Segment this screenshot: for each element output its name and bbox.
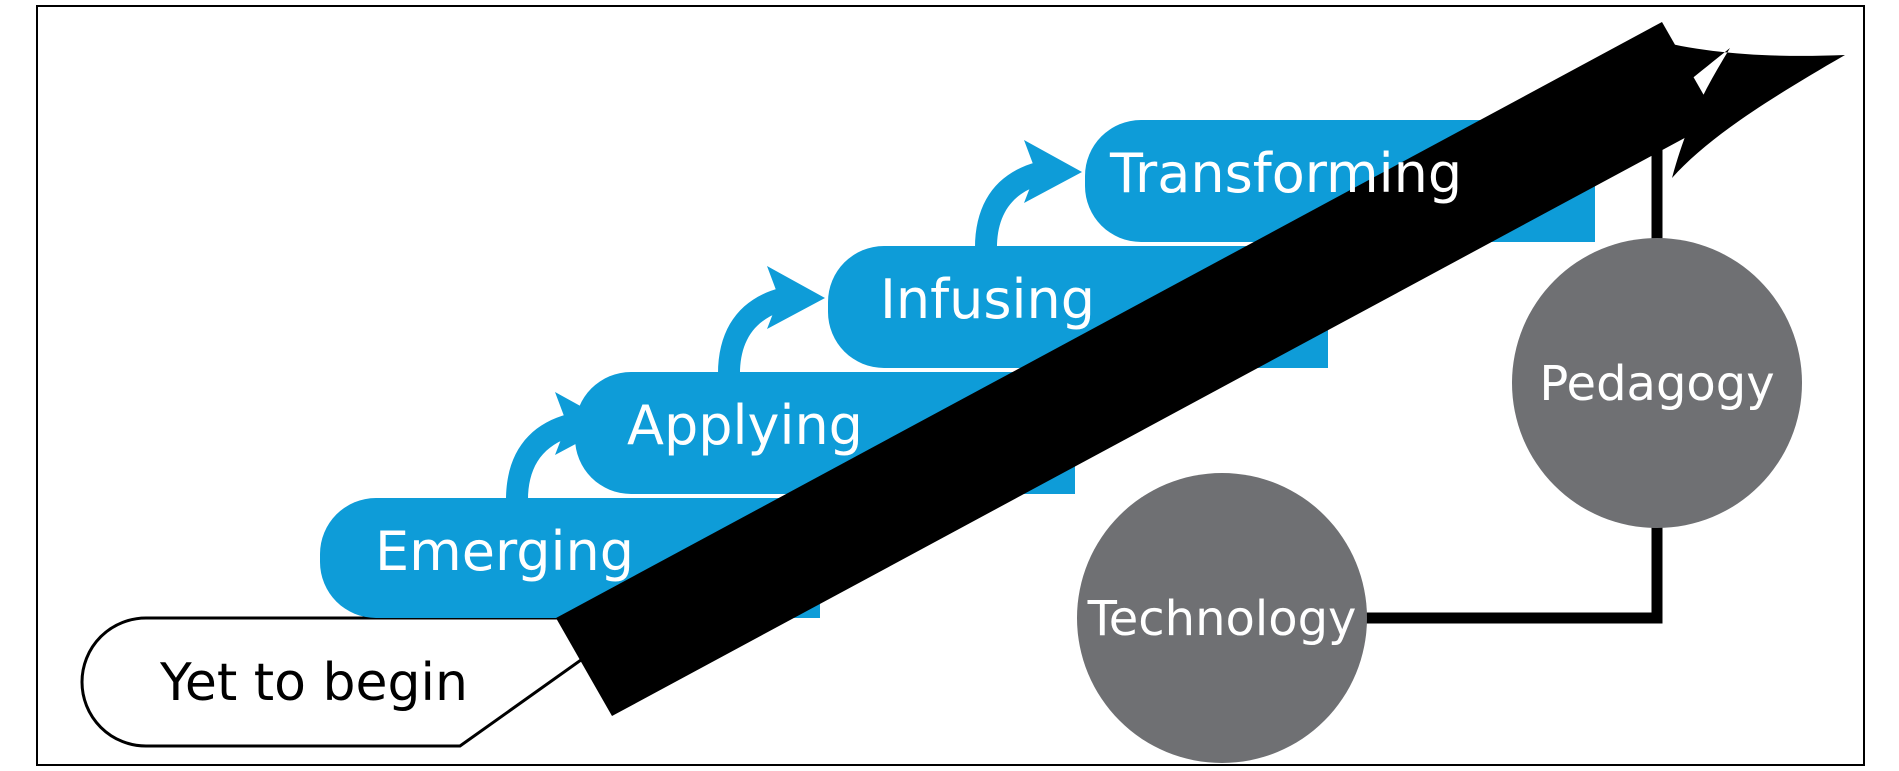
step-transforming-label: Transforming [1109, 142, 1462, 205]
node-pedagogy-label: Pedagogy [1539, 356, 1774, 412]
node-pedagogy[interactable]: Pedagogy [1512, 238, 1802, 528]
arrow-infusing-to-transforming-icon [975, 140, 1082, 248]
step-emerging-label: Emerging [375, 520, 634, 583]
yet-to-begin-label: Yet to begin [159, 653, 468, 713]
node-technology-label: Technology [1087, 591, 1357, 647]
arrow-applying-to-infusing-icon [718, 266, 825, 374]
diagram-canvas: Yet to begin [0, 0, 1899, 771]
step-infusing-label: Infusing [880, 268, 1095, 331]
node-technology[interactable]: Technology [1077, 473, 1367, 763]
step-applying-label: Applying [627, 394, 863, 457]
